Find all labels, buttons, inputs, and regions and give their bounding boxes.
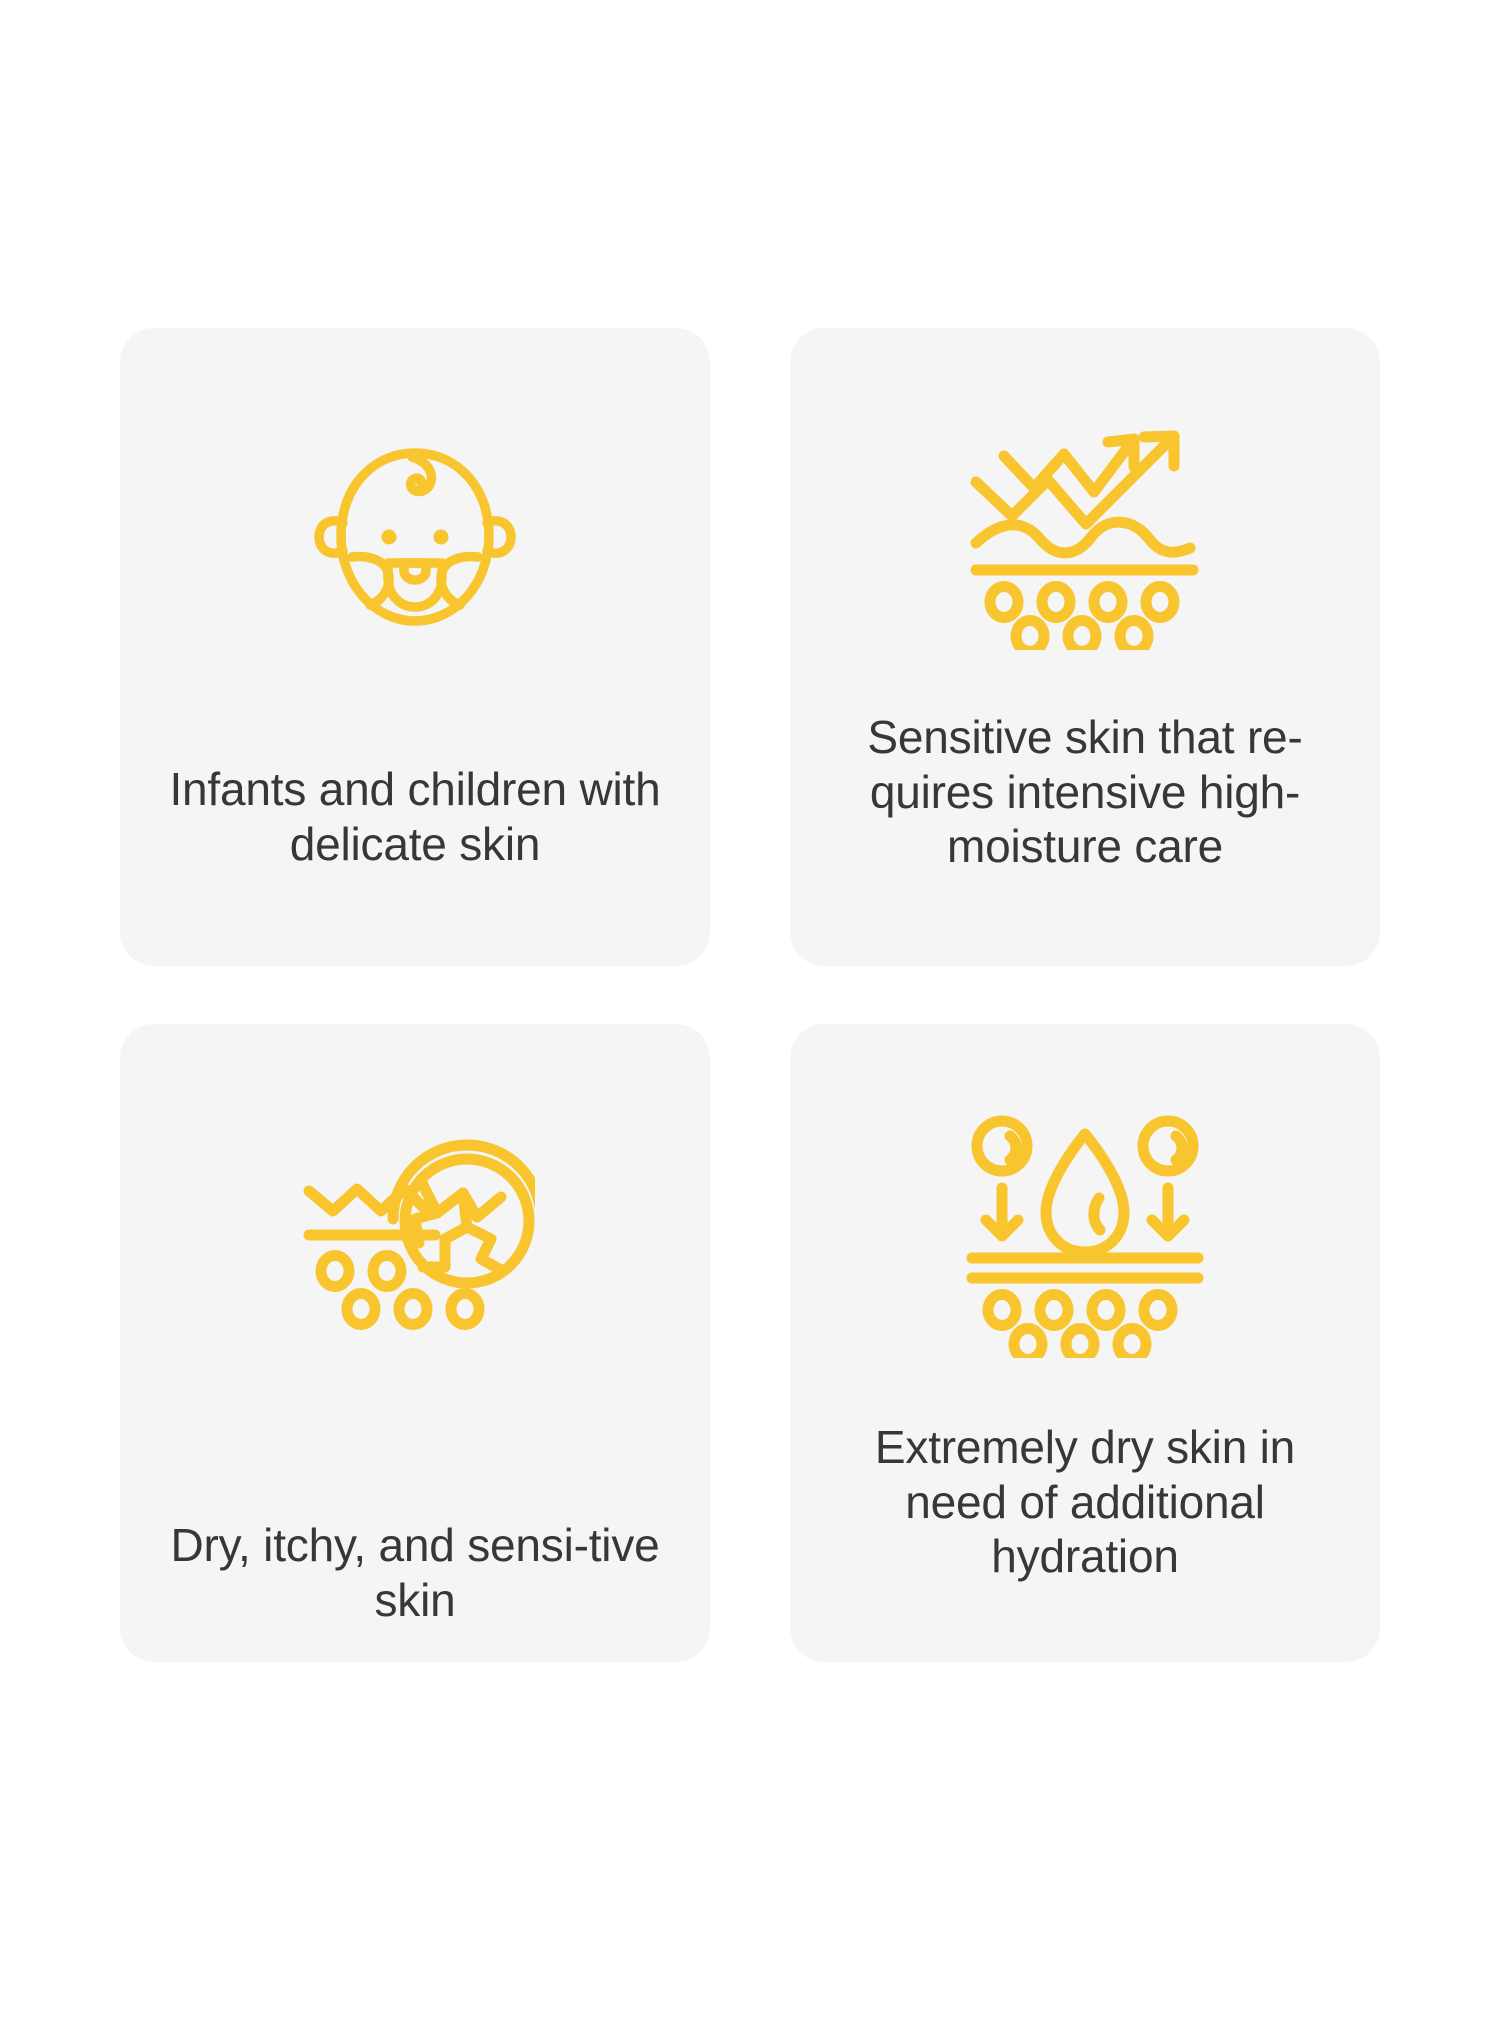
card-dry-itchy-skin[interactable]: Dry, itchy, and sensi-tive skin <box>120 1024 710 1662</box>
benefits-grid-page: Infants and children with delicate skin <box>0 0 1500 2040</box>
cracked-dry-skin-icon <box>120 1128 710 1358</box>
skin-absorption-arrows-icon <box>790 420 1380 650</box>
card-infants-children[interactable]: Infants and children with delicate skin <box>120 328 710 966</box>
card-label: Extremely dry skin in need of additional… <box>820 1420 1351 1584</box>
card-sensitive-skin[interactable]: Sensitive skin that re-quires intensive … <box>790 328 1380 966</box>
skin-type-card-grid: Infants and children with delicate skin <box>120 328 1380 1662</box>
water-droplet-hydration-icon <box>790 1112 1380 1358</box>
card-label: Dry, itchy, and sensi-tive skin <box>150 1518 681 1627</box>
card-extremely-dry-skin[interactable]: Extremely dry skin in need of additional… <box>790 1024 1380 1662</box>
baby-face-icon <box>120 432 710 652</box>
card-label: Infants and children with delicate skin <box>150 762 681 871</box>
card-label: Sensitive skin that re-quires intensive … <box>820 710 1351 874</box>
